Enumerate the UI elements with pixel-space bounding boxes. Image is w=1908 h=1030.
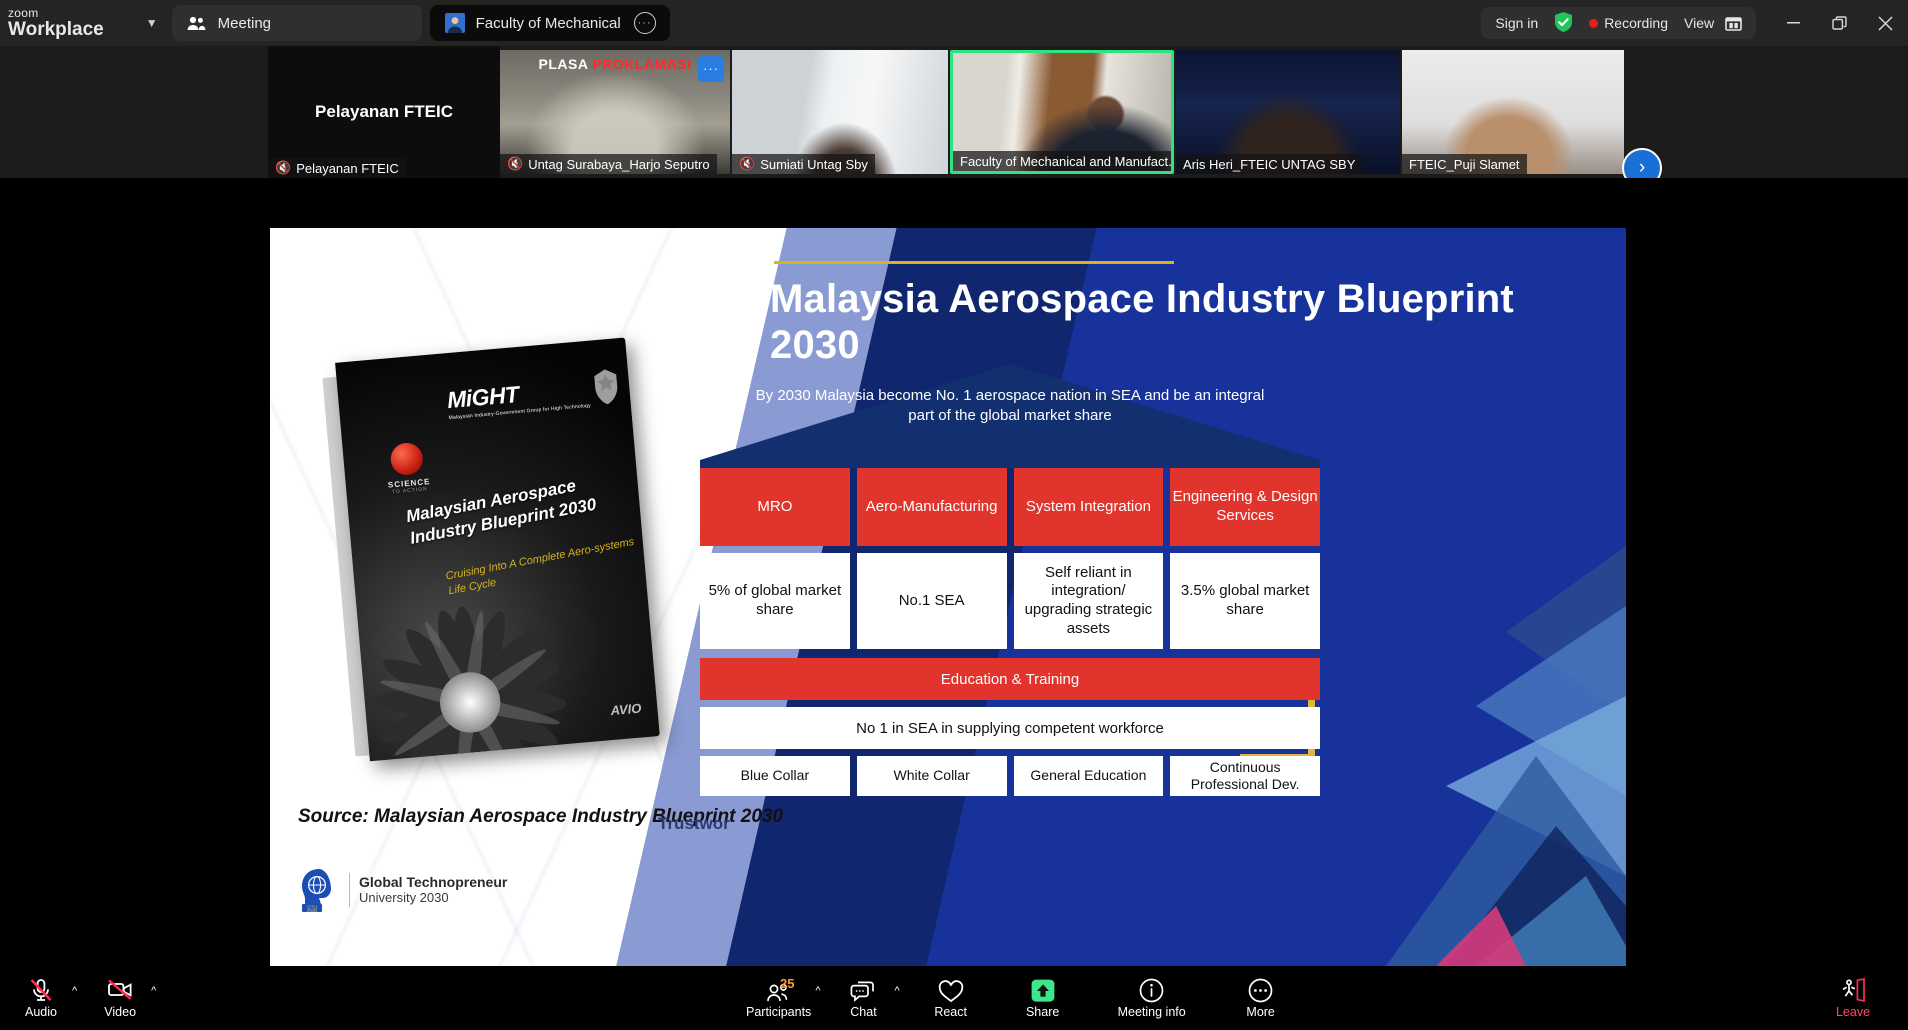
video-tile-name-badge: Aris Heri_FTEIC UNTAG SBY xyxy=(1176,154,1362,174)
chevron-down-icon[interactable]: ▼ xyxy=(146,16,158,30)
education-cell-white-collar: White Collar xyxy=(857,756,1007,796)
more-label: More xyxy=(1246,1005,1274,1019)
video-tile-sumiati[interactable]: 🔇 Sumiati Untag Sby xyxy=(732,50,948,174)
education-cell-blue-collar: Blue Collar xyxy=(700,756,850,796)
video-tile-aris-heri[interactable]: Aris Heri_FTEIC UNTAG SBY xyxy=(1176,50,1400,174)
video-tile-faculty-mechanical[interactable]: Faculty of Mechanical and Manufact... xyxy=(950,50,1174,174)
video-tile-name-badge: FTEIC_Puji Slamet xyxy=(1402,154,1527,174)
science-orb-icon xyxy=(390,442,425,477)
decorative-triangles xyxy=(1326,546,1626,966)
svg-text:2030: 2030 xyxy=(307,908,318,912)
slide-title: Malaysia Aerospace Industry Blueprint 20… xyxy=(770,276,1600,368)
recording-label: Recording xyxy=(1604,15,1668,31)
video-tile-harjo-seputro[interactable]: PLASA PROKLAMASI ··· 🔇 Untag Surabaya_Ha… xyxy=(500,50,730,174)
gtu-logo-text: Global Technopreneur University 2030 xyxy=(359,874,507,906)
close-icon[interactable] xyxy=(1862,0,1908,46)
gtu-logo-divider xyxy=(349,873,350,907)
title-bar: zoom Workplace ▼ Meeting Faculty of Mech… xyxy=(0,0,1908,46)
education-cell-general-education: General Education xyxy=(1014,756,1164,796)
self-view-name-badge: 🔇 Pelayanan FTEIC xyxy=(268,158,406,178)
book-cover-title: Malaysian Aerospace Industry Blueprint 2… xyxy=(404,465,638,550)
shared-screen-area: Malaysia Aerospace Industry Blueprint 20… xyxy=(0,178,1908,966)
video-tile-name: Aris Heri_FTEIC UNTAG SBY xyxy=(1183,157,1355,172)
heart-icon xyxy=(938,977,964,1003)
toolbar-right-group: Leave xyxy=(1820,966,1886,1030)
book-cover: MiGHT Malaysian Industry-Government Grou… xyxy=(335,337,660,761)
might-logo: MiGHT Malaysian Industry-Government Grou… xyxy=(446,375,591,421)
blueprint-pyramid-diagram: By 2030 Malaysia become No. 1 aerospace … xyxy=(700,364,1320,804)
education-training-cells-row: Blue Collar White Collar General Educati… xyxy=(700,756,1320,796)
chat-bubble-icon xyxy=(850,977,876,1003)
pillar-body-row: 5% of global market share No.1 SEA Self … xyxy=(700,553,1320,649)
more-button[interactable]: More xyxy=(1228,966,1294,1030)
recording-indicator[interactable]: Recording xyxy=(1589,15,1668,31)
video-tile-name: Sumiati Untag Sby xyxy=(760,157,868,172)
gtu-globe-head-icon: GTU 2030 xyxy=(300,868,340,912)
tab-meeting[interactable]: Meeting xyxy=(172,5,422,41)
meeting-toolbar: Audio ^ Video ^ xyxy=(0,966,1908,1030)
tile-more-options-icon[interactable]: ··· xyxy=(698,56,724,82)
microphone-muted-icon xyxy=(28,977,54,1003)
meeting-info-button[interactable]: Meeting info xyxy=(1102,966,1202,1030)
science-to-action-logo: SCIENCE TO ACTION xyxy=(384,441,431,496)
plasa-proklamasi-overlay: PLASA PROKLAMASI xyxy=(500,56,730,72)
book-cover-corner-mark: AVIO xyxy=(610,700,642,718)
video-tile-name: FTEIC_Puji Slamet xyxy=(1409,157,1520,172)
pillar-header-engineering-design: Engineering & Design Services xyxy=(1170,468,1320,546)
video-tile-name-badge: 🔇 Untag Surabaya_Harjo Seputro xyxy=(500,154,717,174)
pillar-header-mro: MRO xyxy=(700,468,850,546)
sign-in-button[interactable]: Sign in xyxy=(1495,15,1538,31)
video-tile-puji-slamet[interactable]: FTEIC_Puji Slamet xyxy=(1402,50,1624,174)
tab-faculty-meeting[interactable]: Faculty of Mechanical and Manuf ··· xyxy=(430,5,670,41)
video-tile-name: Faculty of Mechanical and Manufact... xyxy=(960,154,1174,169)
view-button[interactable]: View xyxy=(1684,15,1742,31)
titlebar-right-controls: Sign in Recording View xyxy=(1481,0,1908,46)
pillar-body-mro: 5% of global market share xyxy=(700,553,850,649)
microphone-muted-icon: 🔇 xyxy=(507,156,523,172)
title-underline-rule xyxy=(774,261,1174,264)
slide-footer-partial-text: Trustwor xyxy=(658,814,730,834)
pillar-header-row: MRO Aero-Manufacturing System Integratio… xyxy=(700,468,1320,546)
share-label: Share xyxy=(1026,1005,1059,1019)
titlebar-status-pill: Sign in Recording View xyxy=(1481,7,1756,39)
education-training-header: Education & Training xyxy=(700,658,1320,700)
pillar-body-engineering-design: 3.5% global market share xyxy=(1170,553,1320,649)
microphone-muted-icon: 🔇 xyxy=(275,160,291,176)
react-button[interactable]: React xyxy=(918,966,984,1030)
tab-meeting-label: Meeting xyxy=(218,15,408,32)
brand-line-1: zoom xyxy=(8,7,104,19)
gtu-logo-block: GTU 2030 Global Technopreneur University… xyxy=(300,868,507,912)
presentation-slide: Malaysia Aerospace Industry Blueprint 20… xyxy=(270,228,1626,966)
gtu-logo-line-2: University 2030 xyxy=(359,890,507,906)
leave-label: Leave xyxy=(1836,1005,1870,1019)
leave-button[interactable]: Leave xyxy=(1820,966,1886,1030)
leave-door-icon xyxy=(1840,977,1866,1003)
blueprint-book-image: MiGHT Malaysian Industry-Government Grou… xyxy=(321,337,660,762)
video-tile-name-badge: Faculty of Mechanical and Manufact... xyxy=(953,151,1171,171)
participants-button[interactable]: 25 Participants xyxy=(740,966,817,1030)
education-training-body: No 1 in SEA in supplying competent workf… xyxy=(700,707,1320,749)
shield-check-icon[interactable] xyxy=(1554,12,1573,35)
toolbar-left-group: Audio ^ Video ^ xyxy=(8,966,166,1030)
meeting-info-label: Meeting info xyxy=(1118,1005,1186,1019)
microphone-muted-icon: 🔇 xyxy=(739,156,755,172)
react-label: React xyxy=(934,1005,967,1019)
video-tile-name: Untag Surabaya_Harjo Seputro xyxy=(528,157,709,172)
video-tile-name-badge: 🔇 Sumiati Untag Sby xyxy=(732,154,875,174)
chat-options-chevron-icon[interactable]: ^ xyxy=(894,985,899,997)
video-button[interactable]: Video xyxy=(87,966,153,1030)
zoom-brand-logo: zoom Workplace xyxy=(0,7,104,39)
toolbar-center-group: 25 Participants ^ Chat ^ xyxy=(740,966,1294,1030)
video-options-chevron-icon[interactable]: ^ xyxy=(151,985,156,997)
pillar-header-aero-manufacturing: Aero-Manufacturing xyxy=(857,468,1007,546)
pillar-header-system-integration: System Integration xyxy=(1014,468,1164,546)
audio-button[interactable]: Audio xyxy=(8,966,74,1030)
self-view-name: Pelayanan FTEIC xyxy=(315,102,453,122)
gtu-logo-line-1: Global Technopreneur xyxy=(359,874,507,890)
minimize-icon[interactable] xyxy=(1770,0,1816,46)
malaysia-crest-icon xyxy=(588,366,625,409)
chat-button[interactable]: Chat xyxy=(830,966,896,1030)
video-filmstrip: Pelayanan FTEIC 🔇 Pelayanan FTEIC PLASA … xyxy=(0,46,1908,178)
participants-count: 25 xyxy=(780,976,794,991)
pillar-body-aero-manufacturing: No.1 SEA xyxy=(857,553,1007,649)
tab-faculty-label: Faculty of Mechanical and Manuf xyxy=(476,15,624,32)
pyramid-vision-statement: By 2030 Malaysia become No. 1 aerospace … xyxy=(750,386,1270,427)
participants-label: Participants xyxy=(746,1005,811,1019)
avatar-icon xyxy=(444,12,466,34)
audio-options-chevron-icon[interactable]: ^ xyxy=(72,985,77,997)
brand-line-2: Workplace xyxy=(8,20,104,39)
zoom-window: zoom Workplace ▼ Meeting Faculty of Mech… xyxy=(0,0,1908,1030)
share-button[interactable]: Share xyxy=(1010,966,1076,1030)
audio-label: Audio xyxy=(25,1005,57,1019)
self-view-badge-label: Pelayanan FTEIC xyxy=(296,161,399,176)
video-label: Video xyxy=(104,1005,136,1019)
info-circle-icon xyxy=(1139,977,1164,1003)
ellipsis-circle-icon xyxy=(1248,977,1273,1003)
people-icon xyxy=(186,12,208,34)
share-screen-up-arrow-icon xyxy=(1030,977,1056,1003)
pillar-body-system-integration: Self reliant in integration/ upgrading s… xyxy=(1014,553,1164,649)
restore-icon[interactable] xyxy=(1816,0,1862,46)
tab-more-options-icon[interactable]: ··· xyxy=(634,12,656,34)
chat-label: Chat xyxy=(850,1005,876,1019)
self-view-tile[interactable]: Pelayanan FTEIC 🔇 Pelayanan FTEIC xyxy=(268,46,500,178)
camera-muted-icon xyxy=(106,977,134,1003)
view-label: View xyxy=(1684,15,1714,31)
education-cell-continuous-professional-dev: Continuous Professional Dev. xyxy=(1170,756,1320,796)
